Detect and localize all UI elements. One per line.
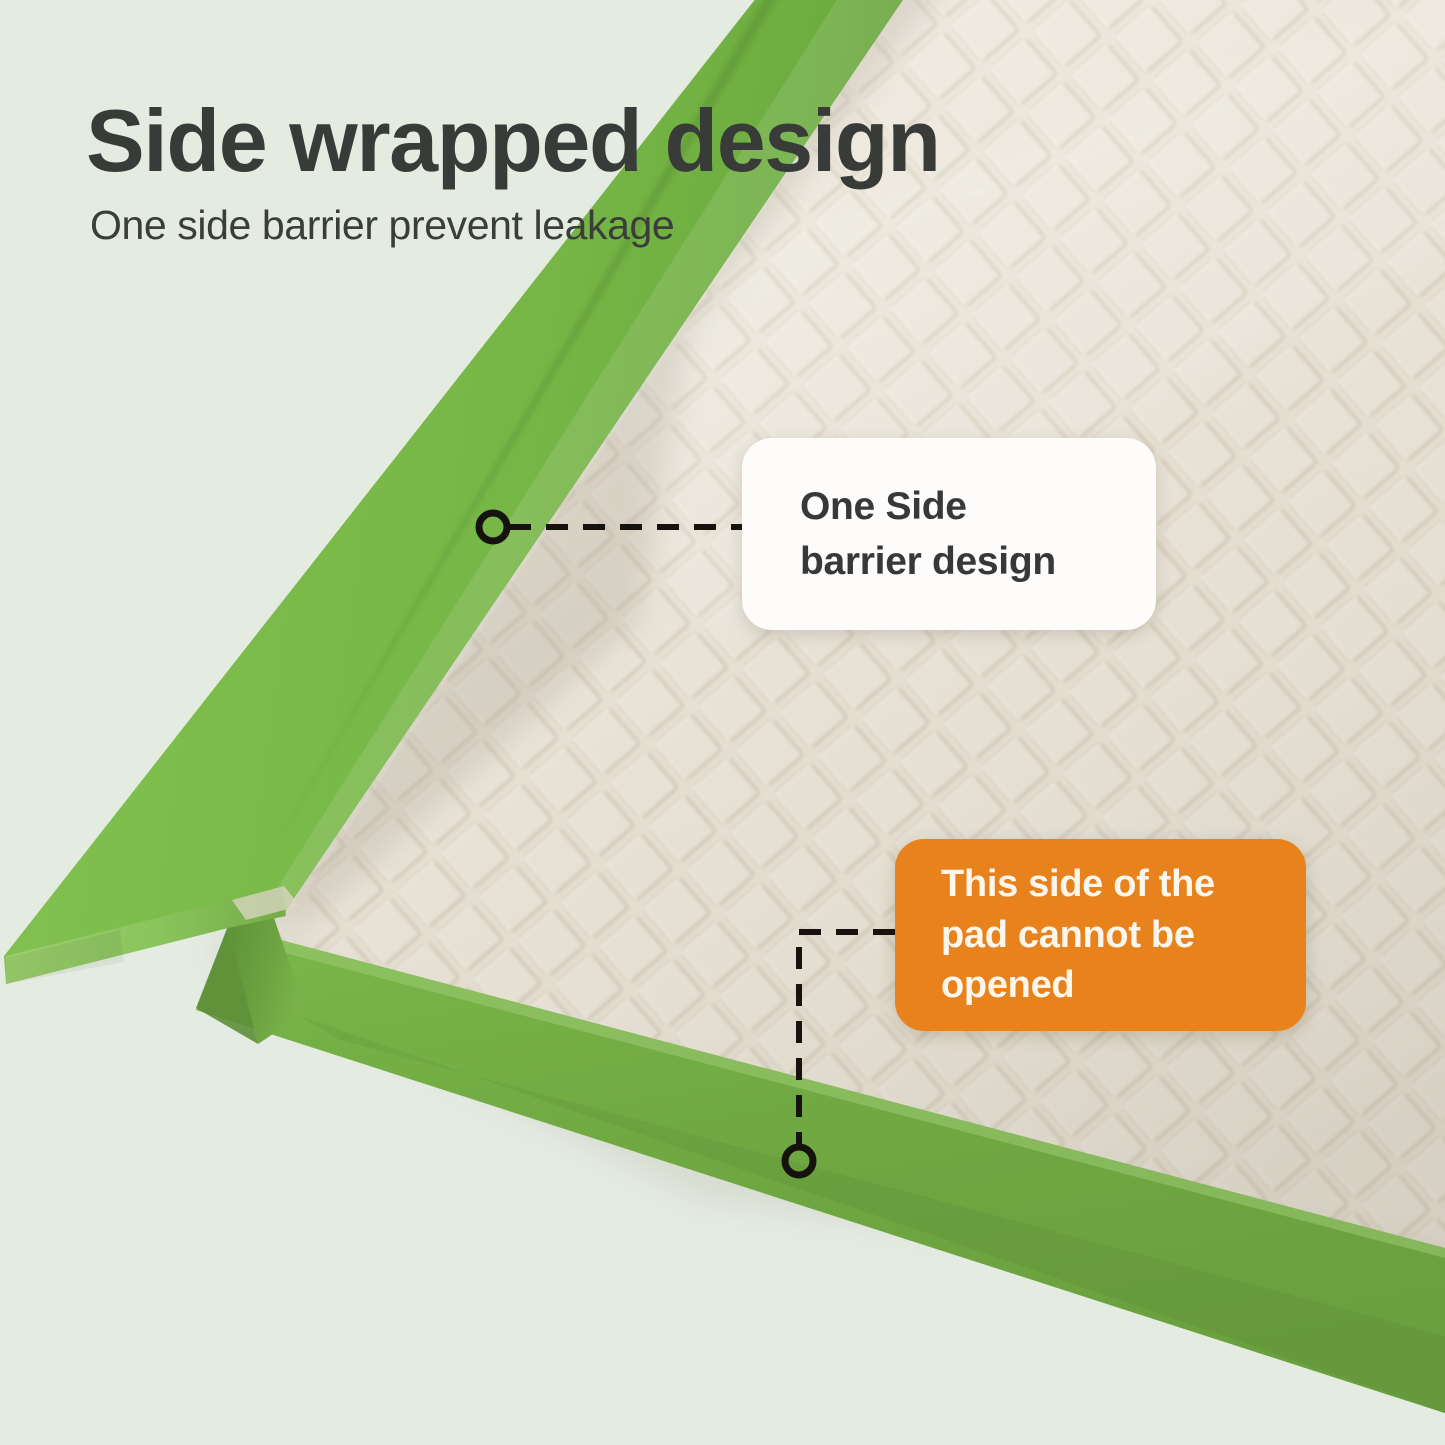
page-title: Side wrapped design xyxy=(86,96,1096,187)
page-subtitle: One side barrier prevent leakage xyxy=(90,201,1096,250)
heading-group: Side wrapped design One side barrier pre… xyxy=(86,96,1096,250)
callout-line: One Side xyxy=(800,479,1098,534)
callout-line: This side of the xyxy=(941,859,1260,910)
callout-one-side-barrier-design: One Side barrier design xyxy=(742,438,1156,630)
callout-line: pad cannot be xyxy=(941,910,1260,961)
callout-pad-cannot-be-opened: This side of the pad cannot be opened xyxy=(895,839,1306,1031)
product-feature-graphic: Side wrapped design One side barrier pre… xyxy=(0,0,1445,1445)
callout-line: barrier design xyxy=(800,534,1098,589)
callout-line: opened xyxy=(941,960,1260,1011)
